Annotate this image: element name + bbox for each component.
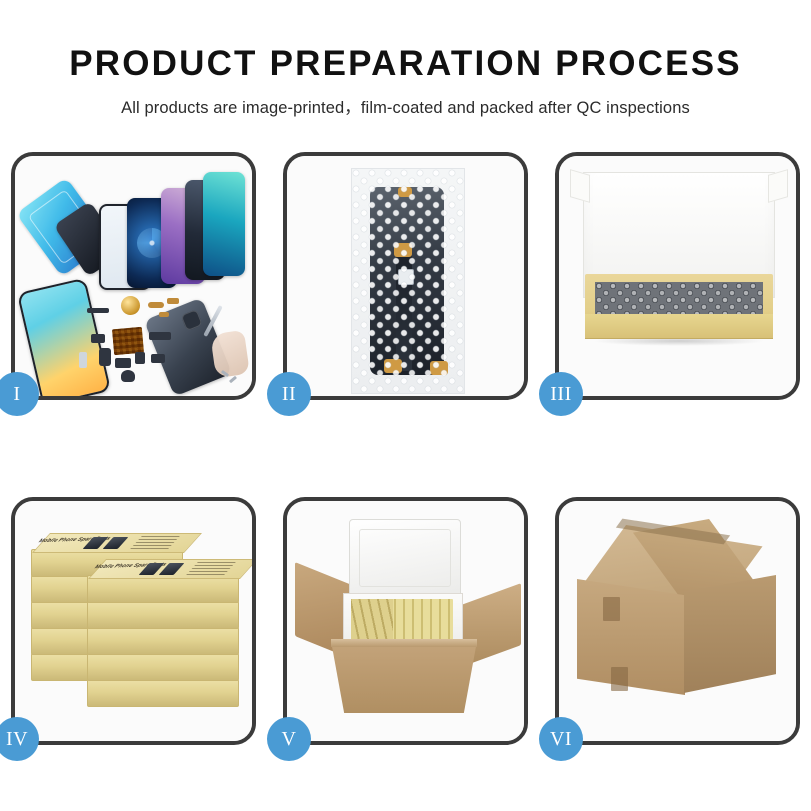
- step-badge-4: IV: [0, 717, 39, 761]
- component-part: [159, 312, 169, 317]
- screw: [229, 376, 237, 383]
- step-badge-1: I: [0, 372, 39, 416]
- teal-gradient-phone: [203, 172, 245, 276]
- hand: [210, 330, 250, 378]
- component-part: [149, 332, 171, 340]
- step-2-image: [287, 156, 524, 396]
- component-part: [121, 370, 135, 382]
- bubble-wrap-bag: [351, 168, 465, 394]
- component-part: [148, 302, 164, 308]
- component-part: [87, 308, 109, 313]
- packed-yellow-boxes-side: [351, 599, 393, 641]
- step-1-image: [15, 156, 252, 396]
- foam-box-lid: [349, 519, 461, 597]
- process-steps-grid: I II: [11, 152, 800, 745]
- step-panel-1: I: [11, 152, 256, 400]
- bubble-texture: [352, 169, 464, 393]
- step-panel-6: VI: [555, 497, 800, 745]
- step-5-image: [287, 501, 524, 741]
- chip-array-component: [112, 327, 144, 356]
- step-4-image: Mobile Phone Spare Parts Mobile Phone Sp…: [15, 501, 252, 741]
- step-badge-6: VI: [539, 717, 583, 761]
- step-3-image: [559, 156, 796, 396]
- step-badge-5: V: [267, 717, 311, 761]
- retail-box: [87, 653, 239, 681]
- step-panel-3: III: [555, 152, 800, 400]
- carton-tape-patch: [603, 597, 620, 621]
- component-part: [167, 298, 179, 304]
- carton-face-right: [684, 575, 776, 693]
- header: PRODUCT PREPARATION PROCESS All products…: [0, 0, 811, 118]
- component-part: [151, 354, 165, 363]
- carton-tape-patch: [611, 667, 628, 691]
- carton-body: [331, 641, 477, 713]
- retail-box: [87, 679, 239, 707]
- page-subtitle: All products are image-printed，film-coat…: [0, 81, 811, 118]
- speaker-module: [121, 296, 140, 315]
- step-6-image: [559, 501, 796, 741]
- bubble-wrapped-contents: [595, 282, 763, 318]
- page-title: PRODUCT PREPARATION PROCESS: [0, 0, 811, 81]
- yellow-box-front: [585, 314, 773, 339]
- product-preparation-process-infographic: PRODUCT PREPARATION PROCESS All products…: [0, 0, 811, 811]
- step-badge-2: II: [267, 372, 311, 416]
- retail-box: [87, 601, 239, 629]
- retail-box: Mobile Phone Spare Parts: [87, 575, 239, 603]
- step-badge-3: III: [539, 372, 583, 416]
- carton-face-left: [577, 579, 685, 695]
- step-panel-5: V: [283, 497, 528, 745]
- step-panel-2: II: [283, 152, 528, 400]
- component-part: [115, 358, 131, 368]
- step-panel-4: Mobile Phone Spare Parts Mobile Phone Sp…: [11, 497, 256, 745]
- box-stack: Mobile Phone Spare Parts Mobile Phone Sp…: [25, 527, 247, 727]
- component-part: [91, 334, 105, 343]
- carton-rim: [331, 639, 477, 647]
- component-part: [135, 352, 145, 364]
- component-part: [79, 352, 87, 368]
- component-part: [99, 348, 111, 366]
- retail-box: [87, 627, 239, 655]
